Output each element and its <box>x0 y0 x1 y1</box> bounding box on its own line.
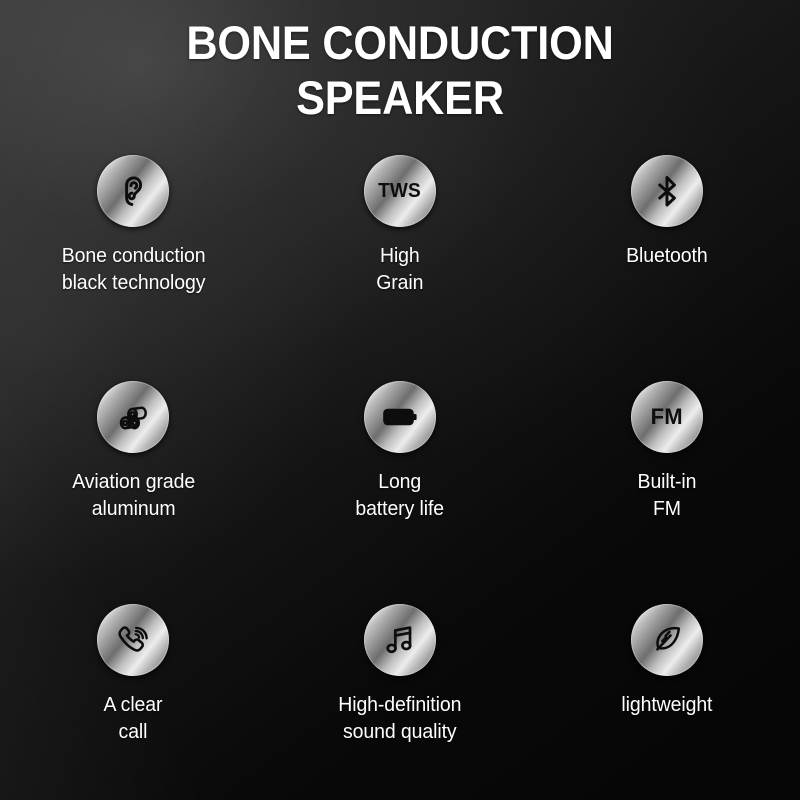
feature-caption-line-1: Aviation grade <box>72 468 195 495</box>
page-title-line-2: SPEAKER <box>32 71 768 126</box>
feature-icon-badge: TWS <box>364 155 436 227</box>
feature-caption: Aviation grade aluminum <box>72 468 195 522</box>
feature-icon-badge <box>631 604 703 676</box>
feature-caption: lightweight <box>621 691 712 718</box>
feature-caption: High Grain <box>376 242 423 296</box>
feature-caption-line-2: sound quality <box>338 718 461 745</box>
feature-caption-line-1: Bone conduction <box>61 242 205 269</box>
feature-caption: Long battery life <box>356 468 445 522</box>
feature-icon-badge <box>364 381 436 453</box>
page-title: BONE CONDUCTION SPEAKER <box>32 0 768 126</box>
ear-icon <box>113 171 153 211</box>
feature-caption: Bone conduction black technology <box>61 242 205 296</box>
feature-icon-badge <box>97 155 169 227</box>
feature-icon-badge <box>364 604 436 676</box>
feature-caption: A clear call <box>104 691 163 745</box>
feature-icon-badge <box>97 381 169 453</box>
feature-icon-badge <box>631 155 703 227</box>
feature-caption-line-1: lightweight <box>621 691 712 718</box>
feature-caption-line-1: Bluetooth <box>626 242 707 269</box>
feature-item-clear-call: A clear call <box>0 600 267 800</box>
phone-call-icon <box>112 619 154 661</box>
product-feature-poster: BONE CONDUCTION SPEAKER Bone conduction … <box>0 0 800 800</box>
feature-caption: High-definition sound quality <box>338 691 461 745</box>
feature-icon-badge <box>97 604 169 676</box>
feature-icon-badge: FM <box>631 381 703 453</box>
feature-caption-line-2: Grain <box>376 269 423 296</box>
feature-item-sound-quality: High-definition sound quality <box>267 600 534 800</box>
feature-grid: Bone conduction black technology TWS Hig… <box>0 154 800 800</box>
page-title-line-1: BONE CONDUCTION <box>32 16 768 71</box>
feature-caption-line-2: FM <box>637 495 696 522</box>
feature-caption-line-1: High-definition <box>338 691 461 718</box>
feature-caption-line-2: black technology <box>61 269 205 296</box>
feature-caption-line-2: aluminum <box>72 495 195 522</box>
feature-caption-line-1: High <box>376 242 423 269</box>
tws-text-icon: TWS <box>379 181 422 201</box>
feature-caption-line-1: A clear <box>104 691 163 718</box>
feature-caption-line-2: call <box>104 718 163 745</box>
feature-caption: Bluetooth <box>626 242 707 269</box>
fm-text-icon: FM <box>651 406 683 428</box>
aluminum-tubes-icon <box>112 396 154 438</box>
feature-item-aviation-aluminum: Aviation grade aluminum <box>0 377 267 600</box>
music-note-icon <box>380 620 420 660</box>
feature-item-lightweight: lightweight <box>533 600 800 800</box>
feature-caption-line-1: Long <box>356 468 445 495</box>
bluetooth-icon <box>647 171 687 211</box>
feather-icon <box>646 619 688 661</box>
feature-item-bone-conduction: Bone conduction black technology <box>0 154 267 377</box>
feature-item-built-in-fm: FM Built-in FM <box>533 377 800 600</box>
feature-caption: Built-in FM <box>637 468 696 522</box>
feature-caption-line-1: Built-in <box>637 468 696 495</box>
feature-item-high-grain: TWS High Grain <box>267 154 534 377</box>
battery-icon <box>377 394 423 440</box>
feature-caption-line-2: battery life <box>356 495 445 522</box>
feature-item-battery-life: Long battery life <box>267 377 534 600</box>
feature-item-bluetooth: Bluetooth <box>533 154 800 377</box>
